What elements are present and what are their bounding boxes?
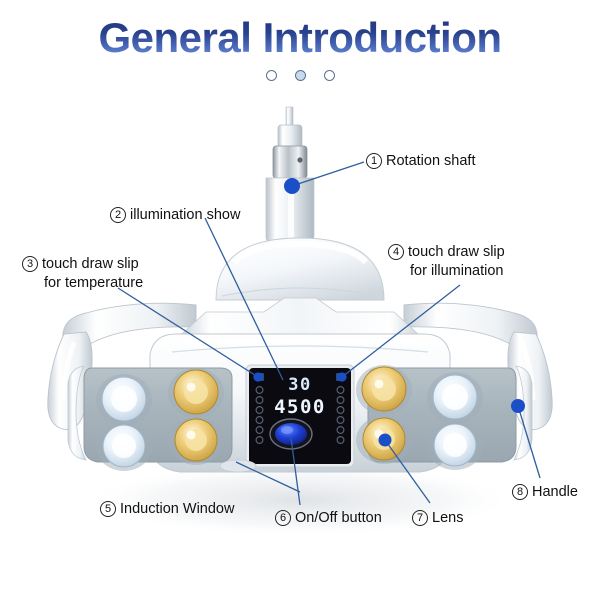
marker-touch-illumination [337,372,346,381]
slide-canvas: General Introduction [0,0,600,600]
lens-white-right-top [427,372,483,424]
marker-lens [379,434,392,447]
marker-handle [511,399,525,413]
lens-gold-left-top [168,368,224,418]
callout-number: 4 [388,244,404,260]
lens-gold-right-top [356,365,412,415]
callout-label: touch draw slip [408,244,505,260]
callout-label: touch draw slip [42,256,139,272]
marker-touch-temperature [253,372,262,381]
callout-touch-draw-slip-illumination: 4touch draw slip for illumination [388,243,505,281]
callout-number: 5 [100,501,116,517]
shaft-chrome-joint [273,146,307,178]
callout-label: Rotation shaft [386,153,475,169]
lens-white-left-top [96,374,152,426]
temperature-readout: 30 [288,375,311,395]
rotation-shaft-group [266,107,314,248]
callout-label: illumination show [130,207,240,223]
callout-touch-draw-slip-temperature: 3touch draw slip for temperature [22,255,143,293]
callout-label-line2: for illumination [388,262,505,281]
callout-label: Induction Window [120,501,234,517]
callout-induction-window: 5Induction Window [100,500,234,519]
shaft-upper-collar [278,125,302,149]
callout-number: 3 [22,256,38,272]
callout-number: 6 [275,510,291,526]
head-top-step [182,298,418,334]
power-button[interactable] [270,419,312,449]
callout-label: Lens [432,510,463,526]
callout-label: On/Off button [295,510,382,526]
callout-number: 2 [110,207,126,223]
callout-label-line2: for temperature [22,274,143,293]
lamp-dome-group [216,238,384,300]
lens-gold-left-bottom [168,417,224,465]
marker-rotation-shaft [284,178,300,194]
callout-illumination-show: 2illumination show [110,206,240,225]
induction-window [220,460,256,472]
lamp-dome [216,238,384,300]
lens-white-right-bottom [427,422,483,470]
callout-number: 8 [512,484,528,500]
callout-rotation-shaft: 1Rotation shaft [366,152,475,171]
brightness-readout: 4500 [274,396,326,418]
callout-label: Handle [532,484,578,500]
callout-number: 7 [412,510,428,526]
callout-lens: 7Lens [412,509,463,528]
callout-number: 1 [366,153,382,169]
callout-on-off-button: 6On/Off button [275,509,382,528]
lens-white-left-bottom [96,423,152,471]
control-panel: 30 4500 [246,365,354,467]
callout-handle: 8Handle [512,483,578,502]
shaft-screw [297,157,302,162]
